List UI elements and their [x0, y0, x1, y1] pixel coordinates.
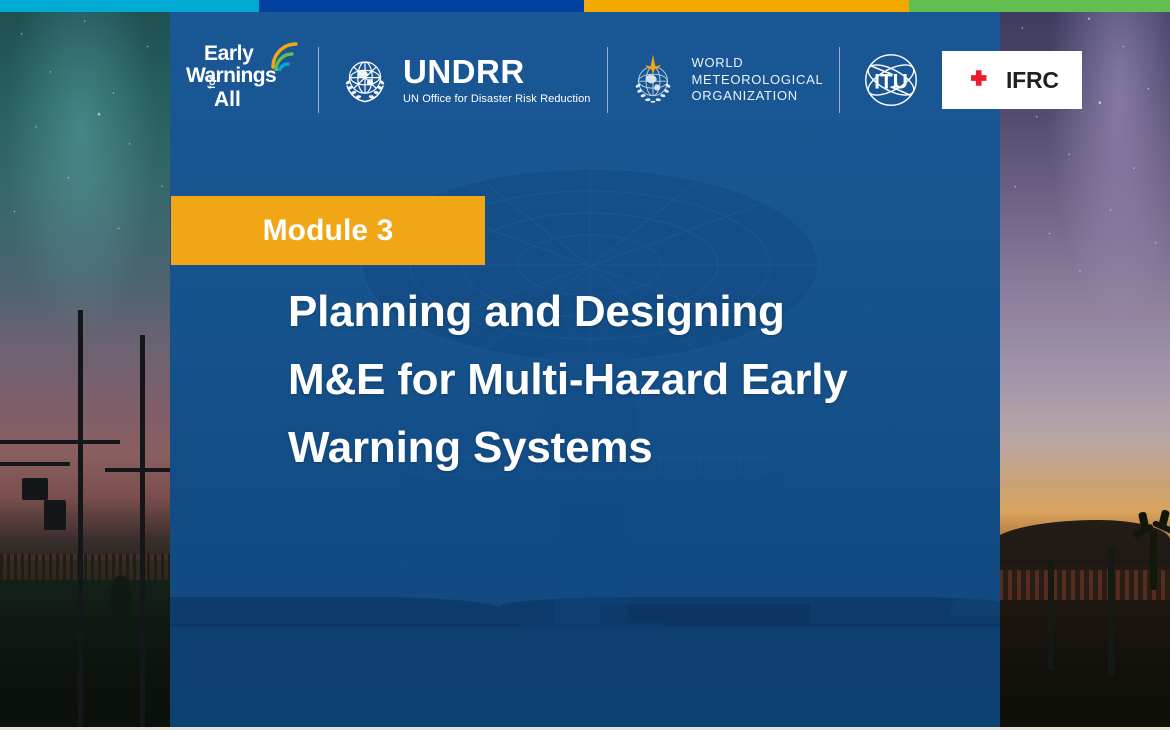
- logo-divider: [839, 47, 840, 113]
- transformer: [44, 500, 66, 530]
- fence-post: [1048, 560, 1054, 670]
- left-brush: [0, 554, 180, 580]
- wmo-logo: WORLD METEOROLOGICAL ORGANIZATION: [624, 51, 824, 109]
- ewfa-line-4: All: [214, 89, 241, 110]
- title-line-3: Warning Systems: [288, 414, 988, 482]
- strip-segment-blue: [259, 0, 584, 12]
- wmo-line-3: ORGANIZATION: [692, 88, 824, 105]
- module-badge-label: Module 3: [263, 214, 394, 248]
- un-globe-laurel-emblem-icon: [335, 50, 395, 110]
- strip-segment-green: [909, 0, 1170, 12]
- ewfa-line-2: Warnings: [186, 65, 276, 86]
- wmo-line-1: WORLD: [692, 55, 824, 72]
- undrr-wordmark: UNDRR UN Office for Disaster Risk Reduct…: [403, 55, 591, 105]
- power-pole: [78, 310, 83, 730]
- wmo-line-2: METEOROLOGICAL: [692, 72, 824, 89]
- ifrc-acronym: IFRC: [1006, 67, 1059, 94]
- left-stars: [0, 0, 180, 423]
- early-warnings-for-all-logo: Early Warnings for All: [184, 39, 302, 121]
- slide-root: Early Warnings for All: [0, 0, 1170, 730]
- transformer: [22, 478, 48, 500]
- right-photo-band: [990, 0, 1170, 730]
- red-cross-red-crescent-icon: [966, 67, 1002, 93]
- strip-segment-cyan: [0, 0, 259, 12]
- ewfa-line-3: for: [208, 76, 218, 89]
- rainbow-signal-arcs-icon: [270, 41, 304, 71]
- top-color-strip: [0, 0, 1170, 12]
- left-photo-band: [0, 0, 180, 730]
- joshua-tree: [1130, 510, 1170, 590]
- partner-logo-row: Early Warnings for All: [170, 36, 1000, 124]
- wmo-wordmark: WORLD METEOROLOGICAL ORGANIZATION: [692, 55, 824, 105]
- wmo-globe-compass-emblem-icon: [624, 51, 682, 109]
- undrr-subtitle: UN Office for Disaster Risk Reduction: [403, 94, 591, 105]
- itu-acronym-text: ITU: [874, 70, 908, 93]
- strip-segment-orange: [584, 0, 909, 12]
- undrr-logo: UNDRR UN Office for Disaster Risk Reduct…: [335, 50, 591, 110]
- title-line-2: M&E for Multi-Hazard Early: [288, 346, 988, 414]
- undrr-acronym: UNDRR: [403, 55, 591, 88]
- itu-globe-emblem-icon: ITU: [856, 45, 926, 115]
- logo-divider: [318, 47, 319, 113]
- left-ground: [0, 560, 180, 730]
- power-pole: [140, 335, 145, 730]
- logo-divider: [607, 47, 608, 113]
- shrub: [110, 575, 132, 621]
- left-crossarm: [0, 440, 120, 444]
- ewfa-line-1: Early: [204, 43, 253, 64]
- left-crossarm: [0, 462, 70, 466]
- fence-post: [1108, 548, 1114, 676]
- module-badge: Module 3: [171, 196, 485, 265]
- page-title: Planning and Designing M&E for Multi-Haz…: [288, 278, 988, 483]
- title-line-1: Planning and Designing: [288, 278, 988, 346]
- ifrc-logo: IFRC: [942, 51, 1082, 109]
